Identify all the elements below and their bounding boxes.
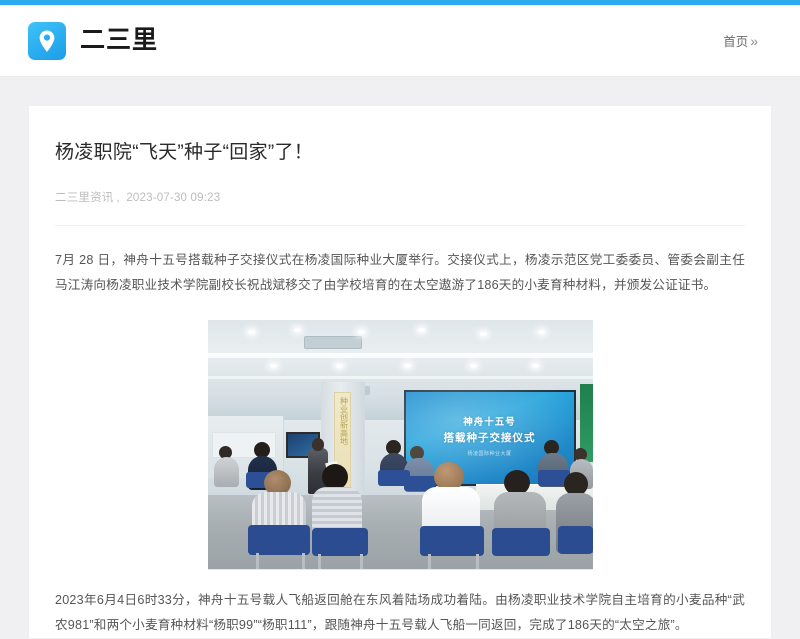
photo-ceiling-vent	[304, 336, 362, 349]
site-header: 二三里 首页 »	[0, 5, 800, 77]
article-paragraph: 2023年6月4日6时33分，神舟十五号载人飞船返回舱在东风着陆场成功着陆。由杨…	[55, 570, 745, 638]
article-paragraph: 7月 28 日，神舟十五号搭载种子交接仪式在杨凌国际种业大厦举行。交接仪式上，杨…	[55, 248, 745, 298]
map-pin-icon	[28, 22, 66, 60]
header-home-label: 首页	[723, 31, 748, 50]
article-meta: 二三里资讯, 2023-07-30 09:23	[55, 189, 745, 205]
page-title: 杨凌职院“飞天”种子“回家”了！	[55, 140, 745, 167]
photo-chair-leg	[476, 554, 479, 570]
photo-chair-leg	[318, 554, 321, 570]
article-source: 二三里资讯	[55, 192, 114, 204]
photo-ceiling-light	[358, 330, 365, 334]
photo-ceiling-light	[470, 364, 477, 368]
photo-bottom-edge	[208, 569, 593, 570]
photo-chair	[312, 528, 368, 556]
photo-audience-torso	[214, 457, 239, 487]
photo-ceiling-light	[538, 330, 545, 334]
double-chevron-right-icon: »	[750, 34, 758, 48]
photo-banner-text: 种业创新高地	[335, 397, 350, 445]
photo-chair	[420, 526, 484, 556]
brand-logo[interactable]: 二三里	[28, 22, 158, 60]
photo-ceiling-light	[270, 364, 277, 368]
photo-ceiling-light	[248, 330, 255, 334]
article-figure: 种业创新高地 神舟十五号 搭载种子交接仪式 杨凌国际种业大厦	[55, 320, 745, 570]
article-card: 杨凌职院“飞天”种子“回家”了！ 二三里资讯, 2023-07-30 09:23…	[28, 105, 772, 639]
header-home-link[interactable]: 首页 »	[723, 31, 758, 50]
photo-audience-head	[322, 464, 348, 490]
page-wrapper: 杨凌职院“飞天”种子“回家”了！ 二三里资讯, 2023-07-30 09:23…	[0, 77, 800, 639]
photo-chair-leg	[428, 554, 431, 570]
photo-ceiling-light	[404, 364, 411, 368]
photo-ceiling-light	[418, 328, 425, 332]
article-timestamp: 2023-07-30 09:23	[126, 192, 220, 204]
photo-ceiling-light	[336, 364, 343, 368]
photo-chair-leg	[256, 553, 259, 570]
article-body: 7月 28 日，神舟十五号搭载种子交接仪式在杨凌国际种业大厦举行。交接仪式上，杨…	[55, 226, 745, 638]
photo-chair	[248, 525, 310, 555]
photo-chair	[558, 526, 593, 554]
photo-audience-head	[504, 470, 530, 495]
photo-chair-leg	[360, 554, 363, 570]
photo-audience-head	[564, 472, 588, 496]
photo-chair-leg	[302, 553, 305, 570]
photo-presenter-head	[312, 438, 324, 451]
photo-ceiling-beam	[208, 376, 593, 379]
photo-ceiling-light	[480, 332, 487, 336]
photo-ceiling-light	[532, 364, 539, 368]
photo-chair	[492, 528, 550, 556]
photo-ceiling-beam	[208, 353, 593, 358]
meta-separator: ,	[114, 192, 123, 204]
photo-ceiling-light	[294, 328, 301, 332]
handover-ceremony-photo: 种业创新高地 神舟十五号 搭载种子交接仪式 杨凌国际种业大厦	[208, 320, 593, 570]
brand-name: 二三里	[80, 28, 158, 53]
